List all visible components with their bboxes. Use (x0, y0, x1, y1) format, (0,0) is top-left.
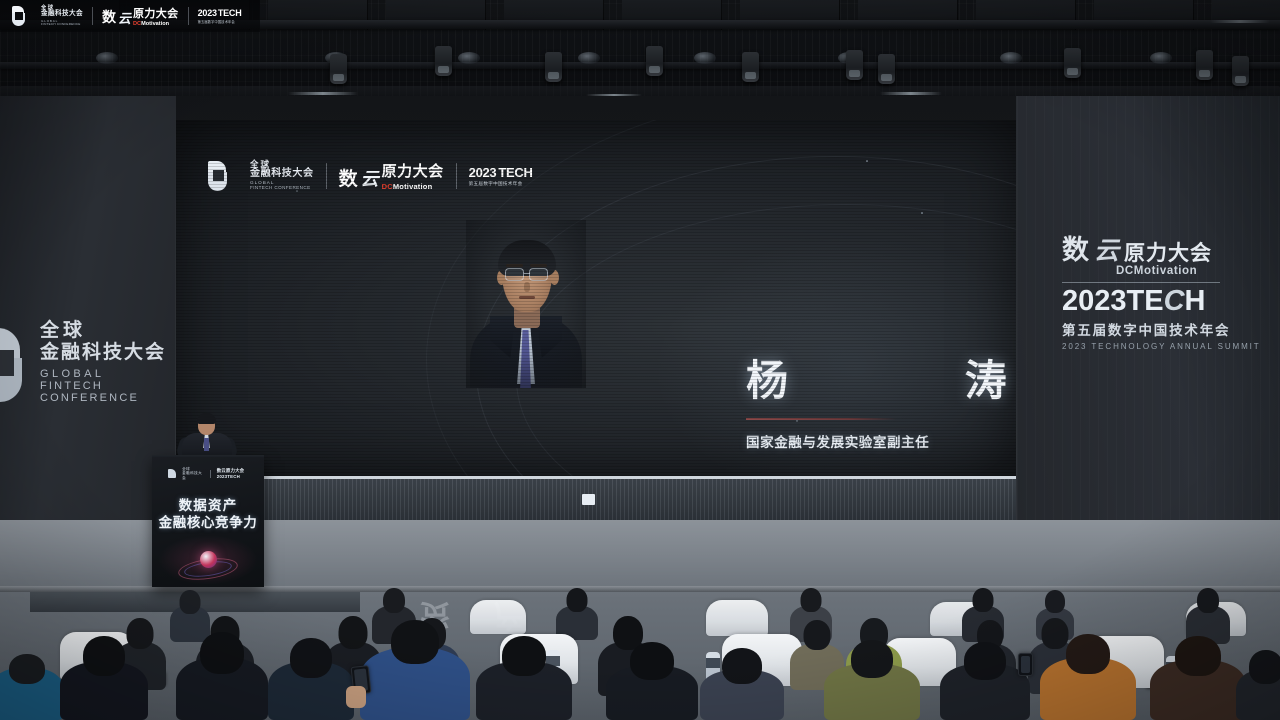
stage-light-fixture (1232, 56, 1249, 86)
right-wall-dcmotivation: DCMotivation (1116, 265, 1278, 277)
smartphone (1018, 653, 1033, 676)
right-wall-shu: 数 (1062, 228, 1090, 267)
screen-annual-cn: 第五届数字中国技术年会 (469, 181, 533, 187)
stage-light-fixture (846, 50, 863, 80)
podium-session-title: 数据资产 金融核心竞争力 (152, 497, 264, 532)
screen-fintech-en2: FINTECH CONFERENCE (250, 186, 314, 191)
hand (346, 686, 366, 708)
stage-lower-backdrop-band (176, 476, 1016, 522)
podium-brand-text: 数云原力大会 2023TECH (217, 468, 264, 479)
right-wall-subtitle-en: 2023 TECHNOLOGY ANNUAL SUMMIT (1062, 342, 1278, 351)
screen-yuanli: 原力大会 (382, 160, 444, 181)
stage-light-fixture (545, 52, 562, 82)
right-wall-divider (1062, 282, 1220, 283)
right-wall-tech-at-icon: C (1164, 285, 1185, 317)
screen-logo-divider (326, 163, 327, 189)
right-wall-yun: 云 (1094, 231, 1120, 267)
ceiling-truss-rear (0, 62, 1280, 69)
header-fintech-cn2: 金融科技大会 (41, 11, 83, 18)
led-presentation-screen: 全球 金融科技大会 GLOBAL FINTECH CONFERENCE 数 云 … (176, 120, 1016, 476)
screen-logo-divider-2 (456, 163, 457, 189)
stage-light-fixture (1064, 48, 1081, 78)
podium-logo-cn2: 金融科技大会 (182, 471, 204, 480)
stage-light-fixture (435, 46, 452, 76)
left-wall-en-line2: FINTECH CONFERENCE (40, 380, 174, 404)
stage-light-fixture (1196, 50, 1213, 80)
right-wall-tech-post: H (1185, 285, 1206, 317)
screen-yun: 云 (361, 165, 379, 191)
screen-shu: 数 (339, 164, 358, 191)
stage-light-glow (1150, 52, 1172, 64)
screen-fintech-cn2: 金融科技大会 (250, 169, 314, 180)
conference-hall-scene: 全球 金融科技大会 GLOBAL FINTECH CONFERENCE 数 云 … (0, 0, 1280, 720)
podium-title-line2: 金融核心竞争力 (152, 514, 264, 531)
speaker-name-underline (746, 418, 896, 420)
stage-light-glow (578, 52, 600, 64)
stage-light-glow (458, 52, 480, 64)
screen-year: 2023 (469, 165, 497, 180)
screen-dcmotivation: DCMotivation (382, 182, 444, 191)
left-wall-cn-line2: 金融科技大会 (40, 342, 174, 365)
left-wall-en-line1: GLOBAL (40, 368, 174, 380)
stage-light-fixture (330, 54, 347, 84)
stage-light-glow (1000, 52, 1022, 64)
header-year: 2023 (198, 8, 217, 18)
stage-light-fixture (742, 52, 759, 82)
right-wall-subtitle-cn: 第五届数字中国技术年会 (1062, 319, 1278, 339)
fintech-logo-icon (12, 6, 32, 26)
header-tech: TECH (218, 8, 242, 18)
right-wall-yuanli: 原力大会 (1124, 237, 1212, 267)
right-wall-tech-pre: TE (1127, 285, 1164, 317)
speaker-name-block: 杨 涛 国家金融与发展实验室副主任 (746, 360, 1016, 451)
header-shu: 数 (102, 7, 116, 27)
header-annual-cn: 第五届数字中国技术年会 (198, 19, 242, 24)
header-yuanli: 原力大会 (133, 5, 179, 21)
left-wall-cn-line1: 全球 (40, 320, 174, 342)
header-divider-2 (188, 7, 189, 25)
stage-light-glow (96, 52, 118, 64)
stage-light-fixture (646, 46, 663, 76)
header-fintech-text: 全球 金融科技大会 GLOBAL FINTECH CONFERENCE (41, 6, 83, 26)
podium-top-surface (152, 455, 264, 457)
fintech-logo-icon (0, 328, 24, 402)
stage-light-fixture (878, 54, 895, 84)
fintech-logo-icon (208, 161, 238, 191)
speaker-name: 杨 涛 (746, 360, 1016, 402)
speaker-portrait-photo (466, 220, 586, 388)
fintech-logo-icon (168, 469, 176, 478)
speaker-title: 国家金融与发展实验室副主任 (746, 431, 1016, 451)
right-wall-tech-lockup: 2023TECH (1062, 287, 1278, 316)
screen-logo-bar: 全球 金融科技大会 GLOBAL FINTECH CONFERENCE 数 云 … (208, 160, 533, 191)
podium-title-line1: 数据资产 (152, 497, 264, 514)
left-wall-panel: 全球 金融科技大会 GLOBAL FINTECH CONFERENCE (0, 96, 176, 526)
right-wall-year: 2023 (1062, 285, 1127, 317)
stage-light-glow (694, 52, 716, 64)
screen-fintech-text: 全球 金融科技大会 GLOBAL FINTECH CONFERENCE (250, 160, 314, 191)
left-wall-signage: 全球 金融科技大会 GLOBAL FINTECH CONFERENCE (6, 320, 174, 404)
broadcast-header-overlay: 全球 金融科技大会 GLOBAL FINTECH CONFERENCE 数 云 … (0, 0, 260, 32)
screen-tech: TECH (498, 165, 532, 180)
podium-logo-row: 全球 金融科技大会 数云原力大会 2023TECH (168, 467, 264, 480)
audience-area: 中国民生银行 中国进出口银行 中信银行 (0, 530, 1280, 720)
header-divider (92, 7, 93, 25)
header-fintech-en2: FINTECH CONFERENCE (41, 23, 83, 26)
right-wall-signage: 数 云 原力大会 DCMotivation 2023TECH 第五届数字中国技术… (1062, 228, 1278, 351)
header-dcmotivation: DCMotivation (133, 21, 179, 27)
header-yun: 云 (118, 8, 131, 27)
